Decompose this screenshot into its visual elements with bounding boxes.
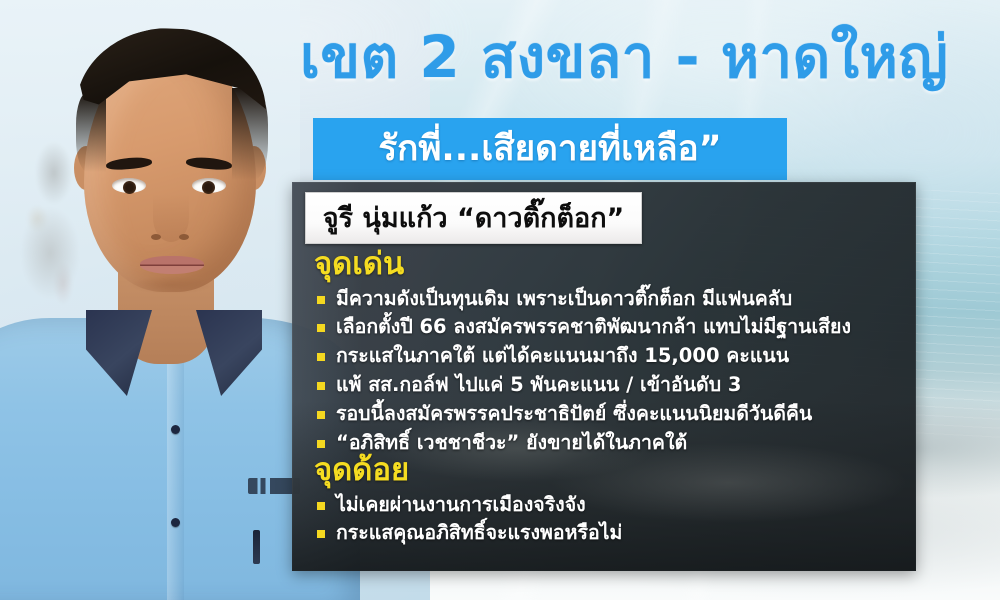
subtitle-text: รักพี่...เสียดายที่เหลือ” [378,132,721,167]
nostril-right [179,234,189,240]
section-strengths: จุดเด่น มีความดังเป็นทุนเดิม เพราะเป็นดา… [314,248,902,458]
section-weaknesses: จุดด้อย ไม่เคยผ่านงานการเมืองจริงจัง กระ… [314,454,902,548]
shirt-button [171,518,180,527]
list-item: กระแสคุณอภิสิทธิ์จะแรงพอหรือไม่ [336,519,902,548]
nostril-left [151,234,161,240]
mouth [140,256,204,274]
list-item: มีความดังเป็นทุนเดิม เพราะเป็นดาวติ๊กต็อ… [336,285,902,314]
anchor-portrait [0,0,330,600]
shirt-button [171,425,180,434]
shirt-pen [253,530,260,564]
list-item: ไม่เคยผ่านงานการเมืองจริงจัง [336,491,902,520]
news-graphic-stage: เขต 2 สงขลา - หาดใหญ่ รักพี่...เสียดายที… [0,0,1000,600]
info-panel: จูรี นุ่มแก้ว “ดาวติ๊กต็อก” จุดเด่น มีคว… [292,182,916,571]
list-item: แพ้ สส.กอล์ฟ ไปแค่ 5 พันคะแนน / เข้าอันด… [336,371,902,400]
section-title-weaknesses: จุดด้อย [314,454,902,487]
candidate-name: จูรี นุ่มแก้ว “ดาวติ๊กต็อก” [323,205,625,232]
list-item: รอบนี้ลงสมัครพรรคประชาธิปัตย์ ซึ่งคะแนนน… [336,400,902,429]
list-item: กระแสในภาคใต้ แต่ได้คะแนนมาถึง 15,000 คะ… [336,342,902,371]
weaknesses-list: ไม่เคยผ่านงานการเมืองจริงจัง กระแสคุณอภิ… [314,491,902,549]
chin-shadow [128,276,214,294]
headline-title: เขต 2 สงขลา - หาดใหญ่ [300,28,920,86]
list-item: เลือกตั้งปี 66 ลงสมัครพรรคชาติพัฒนากล้า … [336,313,902,342]
section-title-strengths: จุดเด่น [314,248,902,281]
candidate-name-box: จูรี นุ่มแก้ว “ดาวติ๊กต็อก” [305,192,642,244]
strengths-list: มีความดังเป็นทุนเดิม เพราะเป็นดาวติ๊กต็อ… [314,285,902,458]
pupil-left [123,181,136,194]
subtitle-banner: รักพี่...เสียดายที่เหลือ” [313,118,787,180]
pupil-right [202,181,215,194]
hair-side-left [76,92,106,172]
shirt-placket [167,360,184,600]
